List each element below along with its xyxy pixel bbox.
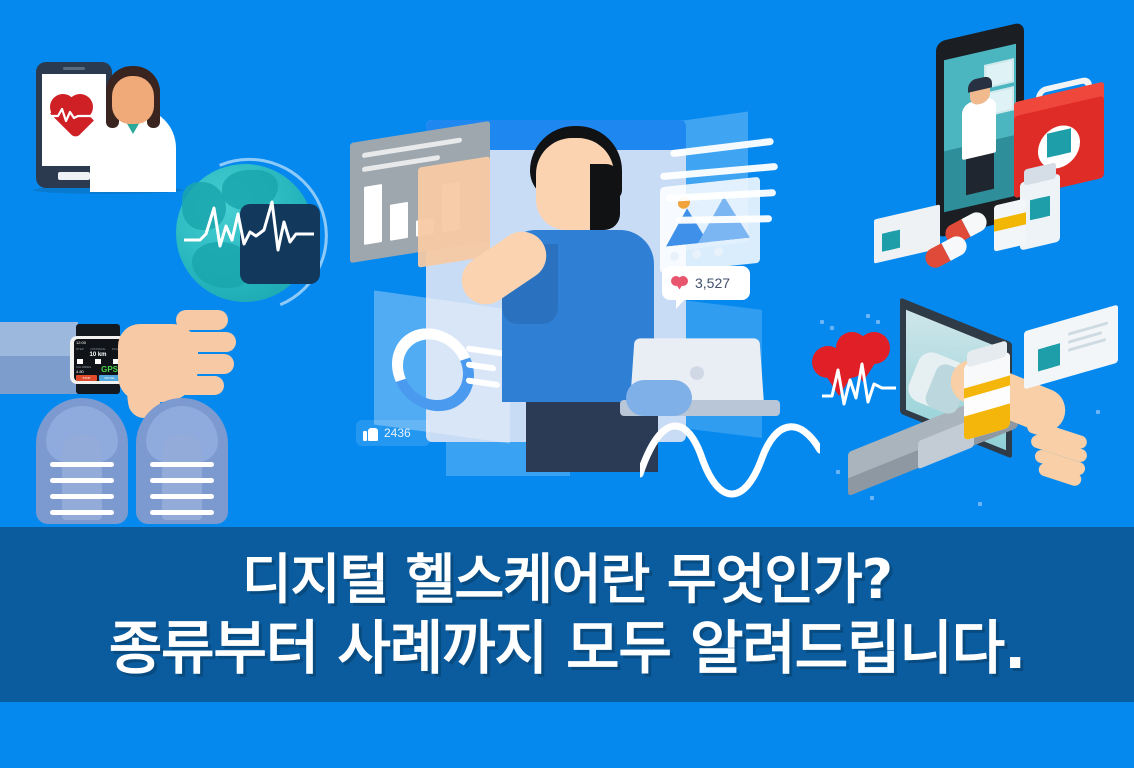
decorative-lines-right xyxy=(650,144,790,274)
pill-bottle xyxy=(964,351,1010,440)
finger-ring xyxy=(180,354,234,374)
watch-screen: 12:00 STEP DISTANCE PACE 10 km CALORIES … xyxy=(74,339,122,381)
ecg-line-icon xyxy=(48,106,98,124)
title-banner: 디지털 헬스케어란 무엇인가? 종류부터 사례까지 모두 알려드립니다. xyxy=(0,527,1134,702)
watch-label-step: STEP xyxy=(76,347,84,351)
decorative-wave-line xyxy=(640,404,820,514)
ecg-line-icon xyxy=(822,354,896,410)
donut-chart-icon xyxy=(380,314,485,426)
person-hair-side xyxy=(590,164,620,230)
phone-home-button xyxy=(58,172,90,180)
heart-badge-tail xyxy=(676,298,686,309)
watch-time: 12:00 xyxy=(76,340,86,345)
medicine-box xyxy=(1024,305,1118,390)
globe-with-ecg-illustration xyxy=(172,158,324,308)
medicine-bottle-small xyxy=(994,198,1026,251)
like-reaction-badge[interactable]: 2436 xyxy=(356,420,430,446)
watch-label-distance: DISTANCE xyxy=(90,347,105,351)
phone-speaker-icon xyxy=(63,67,85,70)
heartbeat-hearts xyxy=(812,328,904,404)
heart-icon xyxy=(671,276,688,291)
banner-headline-line-1: 디지털 헬스케어란 무엇인가? xyxy=(242,549,892,611)
banner-headline-line-2: 종류부터 사례까지 모두 알려드립니다. xyxy=(109,615,1025,681)
heart-reaction-badge[interactable]: 3,527 xyxy=(662,266,750,300)
telemedicine-illustration xyxy=(866,30,1126,280)
finger-middle xyxy=(180,332,236,352)
sneakers-illustration xyxy=(36,398,232,524)
watch-calories-value: 4.80 xyxy=(76,369,84,374)
center-illustration: 3,527 2436 xyxy=(340,104,790,524)
poster-canvas: 12:00 STEP DISTANCE PACE 10 km CALORIES … xyxy=(0,0,1134,768)
finger-index xyxy=(176,310,228,330)
heart-count: 3,527 xyxy=(695,275,730,291)
phone-video-call-screen xyxy=(944,44,1016,213)
watch-stop-button[interactable]: STOP xyxy=(76,375,97,381)
nurse-face xyxy=(112,76,154,124)
medicine-bottle-large xyxy=(1020,173,1060,250)
finger-pinky xyxy=(176,376,224,395)
watch-pause-button[interactable]: PAUSE xyxy=(99,375,120,381)
bottom-color-strip xyxy=(0,702,1134,768)
doctor-coat xyxy=(962,96,996,160)
laptop-hand-medicine-illustration xyxy=(812,310,1124,520)
fingers xyxy=(1026,428,1112,480)
globe-ecg-line-icon xyxy=(184,188,314,280)
shoe-left xyxy=(36,398,128,524)
sleeve-highlight xyxy=(0,322,78,356)
thumbs-up-icon xyxy=(363,426,378,441)
like-count: 2436 xyxy=(384,426,411,440)
hand-overlay-card xyxy=(418,156,490,267)
shoe-right xyxy=(136,398,228,524)
